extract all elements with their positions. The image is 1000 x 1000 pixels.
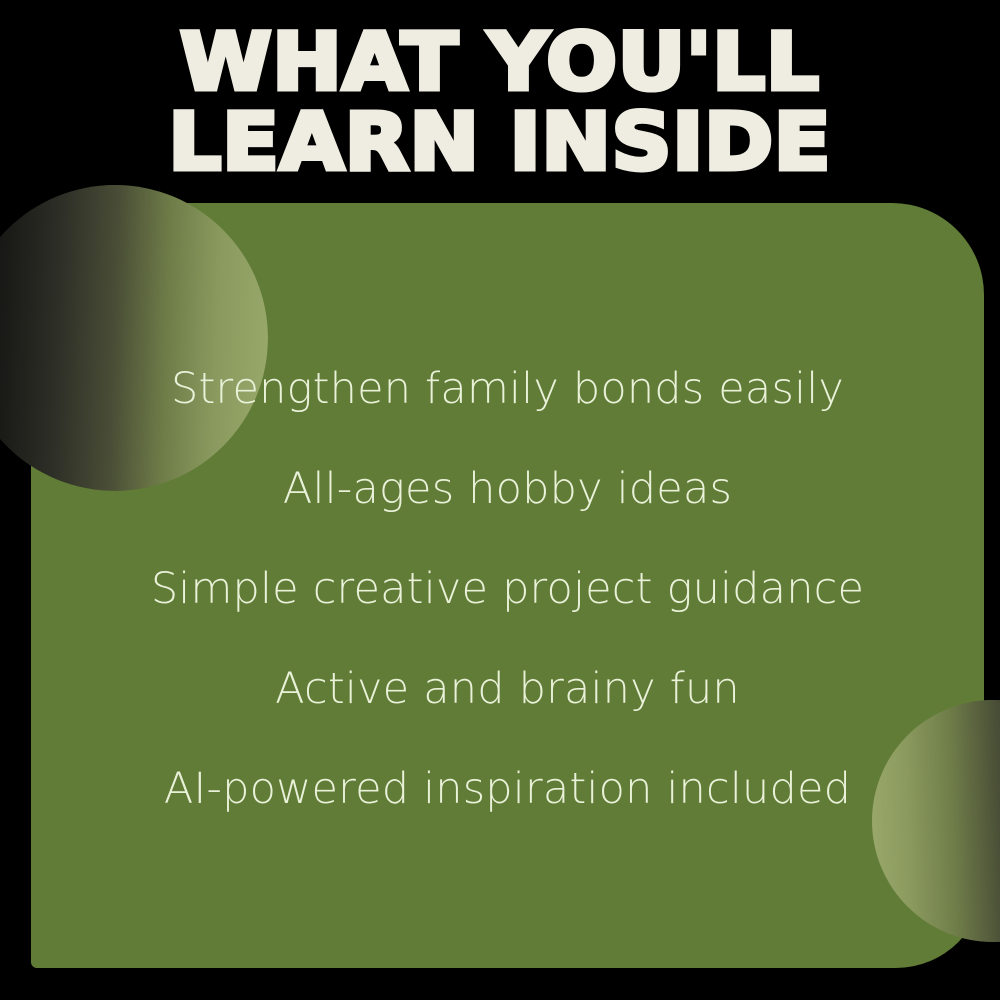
list-item: Simple creative project guidance [55, 539, 960, 639]
poster-canvas: WHAT YOU'LL LEARN INSIDE Strengthen fami… [0, 0, 1000, 1000]
page-title-line-2: LEARN INSIDE [0, 108, 1000, 178]
list-item: AI-powered inspiration included [55, 739, 960, 839]
page-title-line-1: WHAT YOU'LL [0, 28, 1000, 98]
list-item: Strengthen family bonds easily [55, 339, 960, 439]
benefits-list: Strengthen family bonds easily All-ages … [31, 203, 984, 968]
list-item: All-ages hobby ideas [55, 439, 960, 539]
page-title: WHAT YOU'LL LEARN INSIDE [0, 28, 1000, 178]
list-item: Active and brainy fun [55, 639, 960, 739]
